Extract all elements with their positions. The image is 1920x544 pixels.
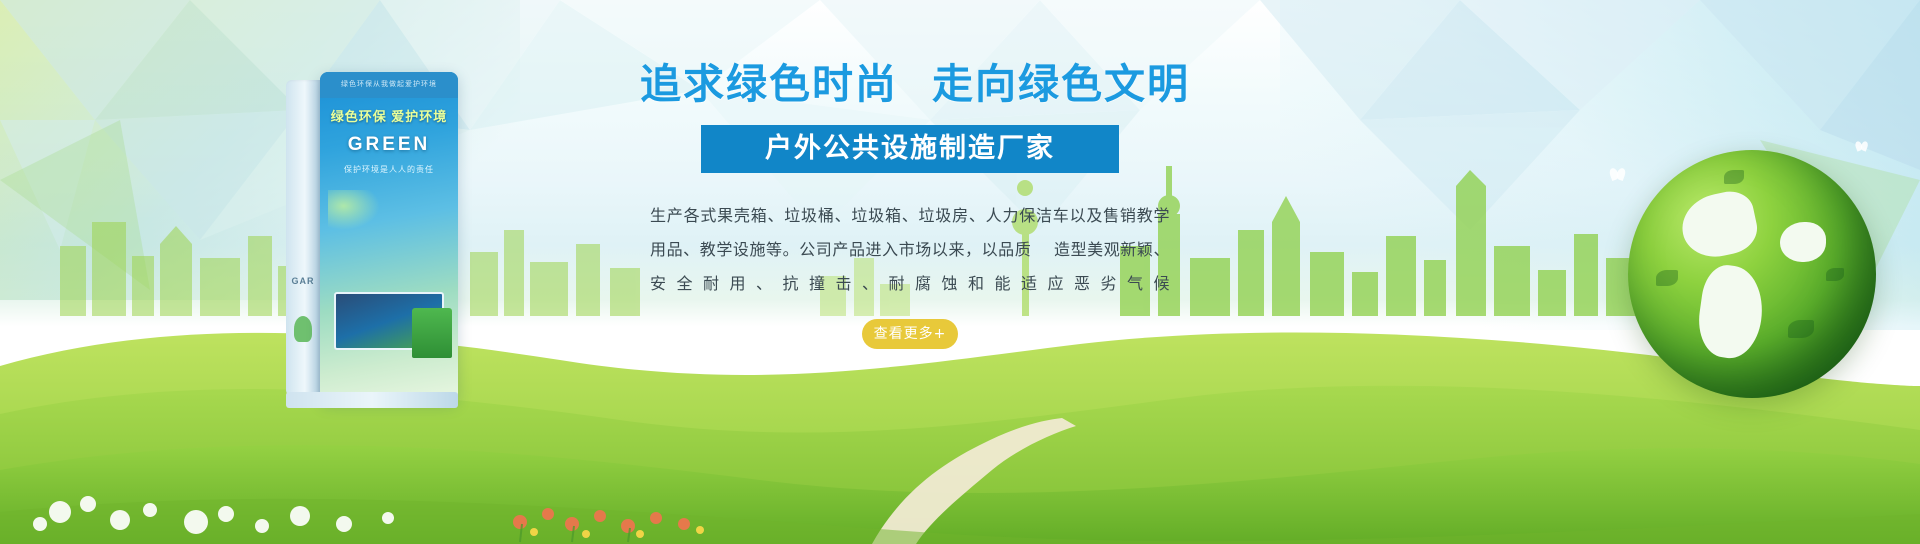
butterfly-icon <box>1610 168 1626 180</box>
kiosk-top-strip: 绿色环保从我做起爱护环境 <box>320 72 458 98</box>
view-more-button[interactable]: 查看更多+ <box>862 319 958 349</box>
kiosk-leaf-graphic-icon <box>328 190 380 230</box>
kiosk-base <box>286 392 458 408</box>
globe-leaf-speck <box>1826 268 1844 281</box>
kiosk-side-panel: GAR <box>286 80 320 396</box>
kiosk-pictogram-icon <box>294 316 312 342</box>
globe-sphere <box>1628 150 1876 398</box>
butterfly-icon <box>1856 141 1869 151</box>
kiosk-green-bin-icon <box>412 308 452 358</box>
banner-content: 追求绿色时尚走向绿色文明 户外公共设施制造厂家 生产各式果壳箱、垃圾桶、垃圾箱、… <box>640 62 1180 349</box>
headline-part-left: 追求绿色时尚 <box>640 60 898 108</box>
kiosk-subtitle: 保护环境是人人的责任 <box>320 164 458 175</box>
kiosk-green-word: GREEN <box>320 134 458 156</box>
globe-continent-south <box>1694 262 1768 362</box>
leaf-globe <box>1628 150 1876 398</box>
recycling-kiosk: GAR 绿色环保从我做起爱护环境 绿色环保 爱护环境 GREEN 保护环境是人人… <box>286 72 458 402</box>
kiosk-side-label: GAR <box>286 276 320 286</box>
foreground-flowers <box>0 424 1920 544</box>
globe-leaf-speck <box>1656 270 1678 286</box>
kiosk-title: 绿色环保 爱护环境 <box>320 106 458 125</box>
headline-part-right: 走向绿色文明 <box>932 60 1190 108</box>
globe-leaf-speck <box>1788 320 1814 338</box>
subtitle-bar: 户外公共设施制造厂家 <box>701 125 1119 173</box>
promo-banner: GAR 绿色环保从我做起爱护环境 绿色环保 爱护环境 GREEN 保护环境是人人… <box>0 0 1920 544</box>
kiosk-front-panel: 绿色环保从我做起爱护环境 绿色环保 爱护环境 GREEN 保护环境是人人的责任 <box>320 72 458 402</box>
flowers-svg <box>0 424 1920 544</box>
globe-leaf-speck <box>1724 170 1744 184</box>
description-text: 生产各式果壳箱、垃圾桶、垃圾箱、垃圾房、人力保洁车以及售销教学用品、教学设施等。… <box>650 199 1170 301</box>
page-title: 追求绿色时尚走向绿色文明 <box>640 62 1180 107</box>
description-block: 生产各式果壳箱、垃圾桶、垃圾箱、垃圾房、人力保洁车以及售销教学用品、教学设施等。… <box>650 199 1170 301</box>
globe-continent-north <box>1676 187 1761 263</box>
globe-continent-east <box>1780 222 1826 262</box>
